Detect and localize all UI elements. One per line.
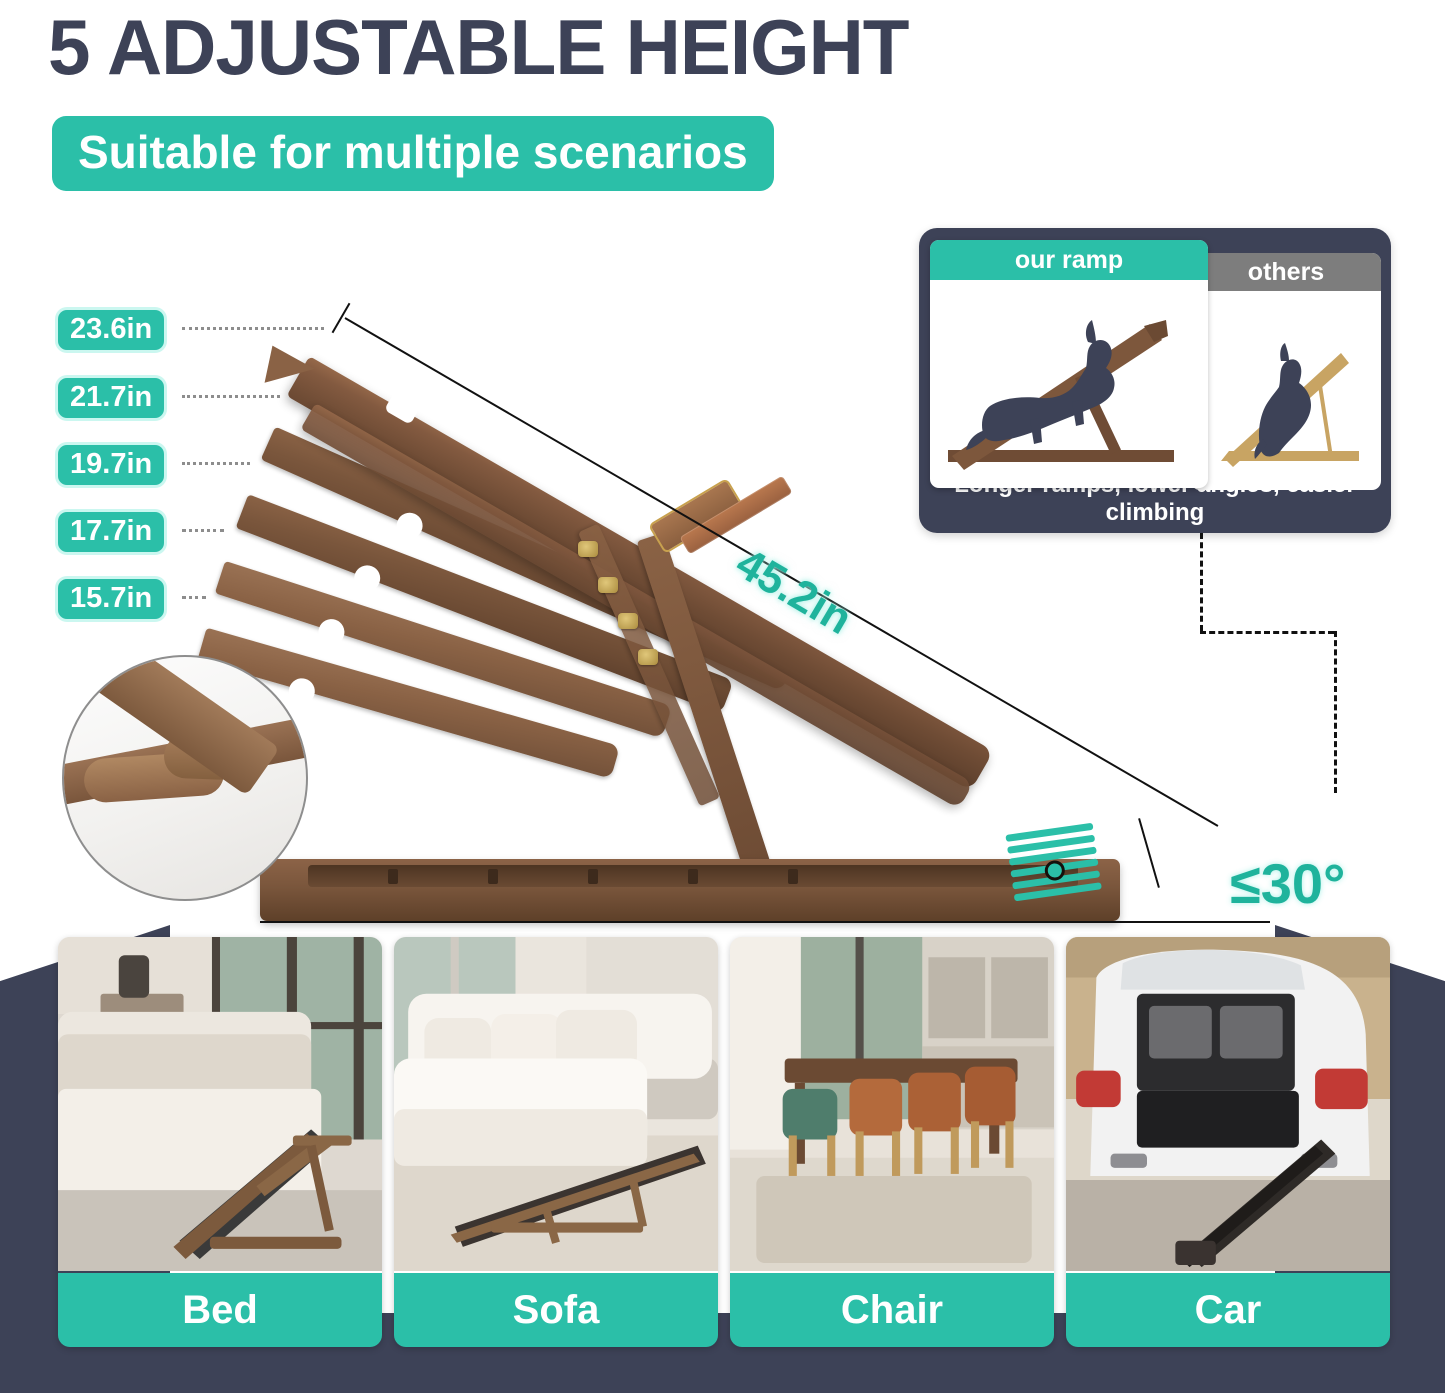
scenarios-section: Bed [0, 925, 1445, 1393]
height-label-5: 15.7in [58, 579, 164, 619]
scenario-photo-sofa [394, 937, 718, 1273]
angle-tick-mark [1138, 818, 1160, 888]
height-label-1: 23.6in [58, 310, 164, 350]
scenario-photo-car [1066, 937, 1390, 1273]
plank-notch [392, 509, 426, 543]
ours-ramp-svg [930, 280, 1208, 488]
scenario-photo-bed [58, 937, 382, 1273]
gold-pin [638, 649, 658, 665]
connector-segment-v2 [1334, 631, 1337, 793]
dog-silhouette-struggling [1254, 343, 1311, 459]
scenario-card-car[interactable]: Car [1066, 937, 1390, 1347]
car-trunk-scene [1066, 937, 1390, 1271]
ramp-deck-under [301, 403, 974, 809]
scenario-label-chair: Chair [730, 1273, 1054, 1347]
living-room-scene [394, 937, 718, 1271]
subtitle-text: Suitable for multiple scenarios [78, 125, 748, 179]
height-label-2: 21.7in [58, 378, 164, 418]
base-slot [388, 869, 398, 884]
base-slot [588, 869, 598, 884]
others-strut [1319, 379, 1331, 457]
height-label-3: 19.7in [58, 445, 164, 485]
subtitle-pill: Suitable for multiple scenarios [52, 116, 774, 191]
scenario-card-bed[interactable]: Bed [58, 937, 382, 1347]
base-slot [688, 869, 698, 884]
plank-notch [286, 675, 318, 707]
scenario-label-sofa: Sofa [394, 1273, 718, 1347]
plank-notch [315, 616, 348, 649]
ramp-base-frame [260, 859, 1120, 921]
plank-notch [350, 562, 384, 596]
dog-silhouette-dachshund [966, 320, 1115, 450]
scenario-photo-chair [730, 937, 1054, 1273]
scenario-card-list: Bed [58, 937, 1390, 1347]
connector-segment-h [1200, 631, 1334, 634]
angle-label: ≤30° [1230, 851, 1345, 916]
height-label-4: 17.7in [58, 512, 164, 552]
bedroom-scene [58, 937, 382, 1271]
page-title: 5 ADJUSTABLE HEIGHT [48, 2, 909, 93]
scenario-label-car: Car [1066, 1273, 1390, 1347]
scenario-label-bed: Bed [58, 1273, 382, 1347]
detail-closeup-circle [62, 655, 308, 901]
comparison-ours-title: our ramp [930, 240, 1208, 280]
base-slot [788, 869, 798, 884]
dining-room-scene [730, 937, 1054, 1271]
gold-pin [618, 613, 638, 629]
connector-segment-v1 [1200, 533, 1203, 631]
scenario-card-chair[interactable]: Chair [730, 937, 1054, 1347]
gold-pin [598, 577, 618, 593]
others-illustration [1191, 291, 1381, 488]
comparison-card: others our ramp [919, 228, 1391, 533]
base-channel [308, 865, 1078, 887]
others-ramp-svg [1191, 291, 1381, 490]
comparison-others-title: others [1191, 253, 1381, 291]
gold-pin [578, 541, 598, 557]
ours-illustration [930, 280, 1208, 488]
teal-adjustment-notches [1005, 818, 1125, 911]
scenario-card-sofa[interactable]: Sofa [394, 937, 718, 1347]
baseline-dimension-line [260, 921, 1270, 923]
base-slot [488, 869, 498, 884]
comparison-ours-panel: our ramp [930, 240, 1208, 488]
comparison-others-panel: others [1191, 253, 1381, 490]
